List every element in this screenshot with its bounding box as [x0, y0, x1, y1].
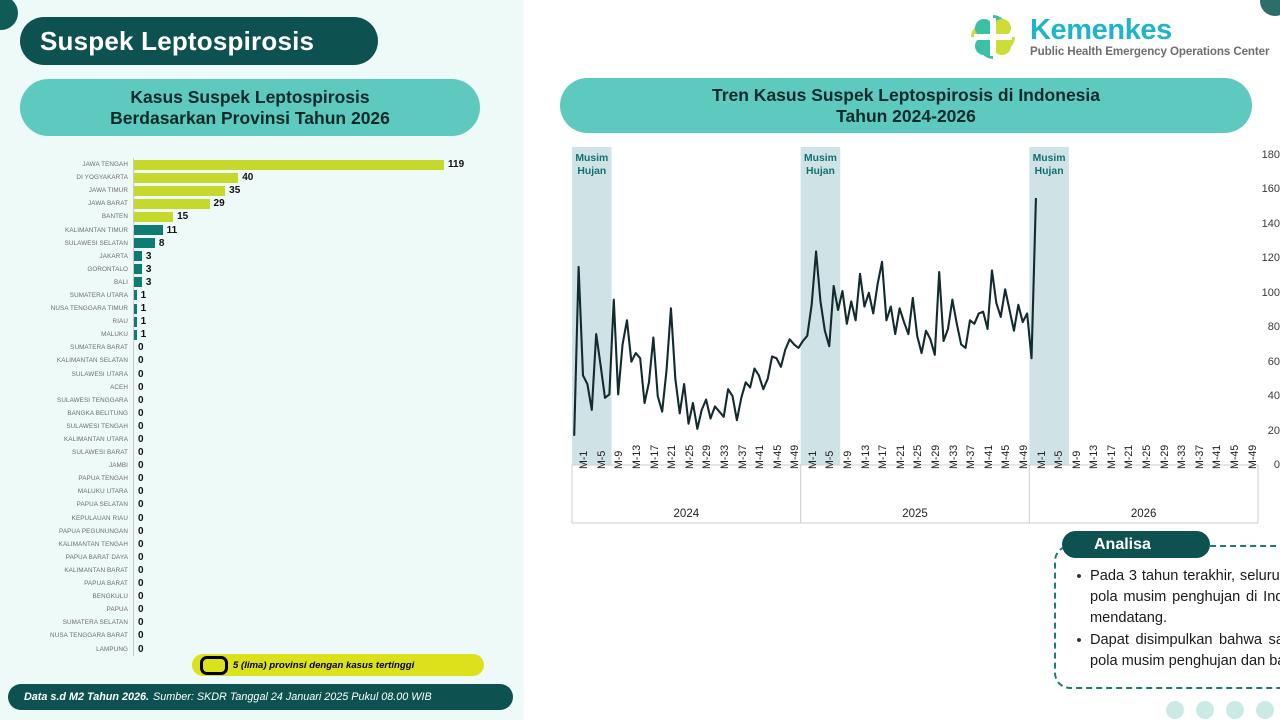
bar-value-label: 0 — [138, 565, 144, 576]
bar-value-label: 1 — [141, 316, 147, 327]
bar-category-label: PAPUA TENGAH — [0, 475, 133, 482]
y-axis-tick-label: 40 — [1244, 390, 1280, 402]
bar-value-label: 3 — [146, 251, 152, 262]
bar-category-label: JAMBI — [0, 462, 133, 469]
x-axis-tick-label: M-5 — [596, 451, 608, 469]
bar-fill — [134, 251, 142, 261]
bar-fill — [134, 173, 238, 183]
bar-chart-title-line2: Berdasarkan Provinsi Tahun 2026 — [110, 108, 390, 129]
bar-fill — [134, 290, 137, 300]
bar-category-label: KALIMANTAN TIMUR — [0, 227, 133, 234]
right-panel: Kemenkes Public Health Emergency Operati… — [524, 0, 1280, 720]
bar-category-label: SUMATERA BARAT — [0, 344, 133, 351]
bar-row: MALUKU UTARA0 — [0, 485, 524, 498]
bar-value-label: 0 — [138, 395, 144, 406]
source-footer: Data s.d M2 Tahun 2026. Sumber: SKDR Tan… — [8, 684, 513, 710]
bar-row: PAPUA0 — [0, 603, 524, 616]
bar-value-label: 15 — [177, 211, 188, 222]
bar-value-label: 11 — [167, 225, 178, 236]
bar-category-label: SULAWESI UTARA — [0, 371, 133, 378]
bar-track: 0 — [133, 433, 524, 446]
footer-data-period: Data s.d M2 Tahun 2026. — [24, 691, 149, 703]
bar-track: 0 — [133, 381, 524, 394]
x-axis-tick-label: M-9 — [1071, 451, 1083, 469]
bar-value-label: 0 — [138, 421, 144, 432]
bar-row: SULAWESI UTARA0 — [0, 368, 524, 381]
bar-row: JAWA TENGAH119 — [0, 158, 524, 171]
x-axis-tick-label: M-25 — [684, 445, 696, 469]
bar-track: 3 — [133, 250, 524, 263]
bar-category-label: SULAWESI TENGAH — [0, 423, 133, 430]
x-axis-tick-label: M-37 — [965, 445, 977, 469]
bar-category-label: ACEH — [0, 384, 133, 391]
x-axis-tick-label: M-45 — [1000, 445, 1012, 469]
season-band — [1029, 147, 1069, 465]
bar-category-label: JAWA TIMUR — [0, 187, 133, 194]
season-band-label: MusimHujan — [568, 153, 616, 178]
bar-track: 0 — [133, 551, 524, 564]
bar-value-label: 0 — [138, 617, 144, 628]
bar-row: PAPUA PEGUNUNGAN0 — [0, 525, 524, 538]
bar-value-label: 8 — [159, 238, 165, 249]
bar-track: 119 — [133, 158, 524, 171]
season-band-label: MusimHujan — [1025, 153, 1073, 178]
bar-value-label: 0 — [138, 342, 144, 353]
bar-track: 8 — [133, 237, 524, 250]
bar-track: 29 — [133, 197, 524, 210]
bar-category-label: PAPUA SELATAN — [0, 501, 133, 508]
bar-value-label: 0 — [138, 513, 144, 524]
decorative-corner-dot — [0, 0, 18, 30]
bar-track: 35 — [133, 184, 524, 197]
bar-track: 3 — [133, 263, 524, 276]
bar-row: KALIMANTAN TIMUR11 — [0, 223, 524, 236]
oval-highlight-icon — [200, 656, 228, 675]
bar-track: 0 — [133, 394, 524, 407]
analisa-heading: Analisa — [1094, 536, 1151, 554]
bar-value-label: 0 — [138, 644, 144, 655]
bar-value-label: 0 — [138, 578, 144, 589]
bar-row: PAPUA TENGAH0 — [0, 472, 524, 485]
bar-track: 0 — [133, 368, 524, 381]
bar-value-label: 0 — [138, 591, 144, 602]
x-axis-tick-label: M-37 — [737, 445, 749, 469]
bar-category-label: PAPUA — [0, 606, 133, 613]
bar-chart-legend-label: 5 (lima) provinsi dengan kasus tertinggi — [233, 660, 414, 671]
bar-row: NUSA TENGGARA BARAT0 — [0, 629, 524, 642]
bar-row: BANGKA BELITUNG0 — [0, 407, 524, 420]
bar-category-label: NUSA TENGGARA TIMUR — [0, 305, 133, 312]
x-axis-tick-label: M-17 — [1106, 445, 1118, 469]
bar-row: SUMATERA BARAT0 — [0, 341, 524, 354]
bar-track: 0 — [133, 472, 524, 485]
bar-row: PAPUA BARAT DAYA0 — [0, 551, 524, 564]
x-axis-tick-label: M-21 — [895, 445, 907, 469]
bar-value-label: 0 — [138, 552, 144, 563]
bar-row: BENGKULU0 — [0, 590, 524, 603]
bar-category-label: SULAWESI TENGGARA — [0, 397, 133, 404]
bar-category-label: KALIMANTAN UTARA — [0, 436, 133, 443]
bar-category-label: BANTEN — [0, 213, 133, 220]
bar-row: SULAWESI BARAT0 — [0, 446, 524, 459]
bar-row: KALIMANTAN UTARA0 — [0, 433, 524, 446]
bar-row: JAKARTA3 — [0, 250, 524, 263]
bar-category-label: SUMATERA SELATAN — [0, 619, 133, 626]
bar-track: 0 — [133, 459, 524, 472]
y-axis-tick-label: 160 — [1244, 183, 1280, 195]
bar-category-label: SUMATERA UTARA — [0, 292, 133, 299]
bar-value-label: 40 — [242, 172, 253, 183]
bar-track: 0 — [133, 498, 524, 511]
bar-row: KEPULAUAN RIAU0 — [0, 512, 524, 525]
bar-value-label: 0 — [138, 460, 144, 471]
x-axis-tick-label: M-1 — [807, 451, 819, 469]
bar-track: 0 — [133, 538, 524, 551]
slide-title-pill: Suspek Leptospirosis — [20, 17, 378, 65]
bar-track: 0 — [133, 616, 524, 629]
bar-value-label: 0 — [138, 539, 144, 550]
bar-track: 0 — [133, 420, 524, 433]
bar-category-label: PAPUA PEGUNUNGAN — [0, 528, 133, 535]
kemenkes-logo: Kemenkes Public Health Emergency Operati… — [964, 8, 1269, 66]
x-axis-tick-label: M-25 — [912, 445, 924, 469]
bar-row: PAPUA SELATAN0 — [0, 498, 524, 511]
bar-fill — [134, 330, 137, 340]
bar-row: ACEH0 — [0, 381, 524, 394]
x-axis-tick-label: M-17 — [877, 445, 889, 469]
bar-track: 0 — [133, 407, 524, 420]
y-axis-tick-label: 60 — [1244, 356, 1280, 368]
bar-row: RIAU1 — [0, 315, 524, 328]
x-axis-tick-label: M-29 — [930, 445, 942, 469]
trend-line-chart: MusimHujanMusimHujanMusimHujan0204060801… — [530, 145, 1280, 525]
bar-chart-title-line1: Kasus Suspek Leptospirosis — [130, 87, 369, 108]
bar-row: JAWA BARAT29 — [0, 197, 524, 210]
bar-value-label: 3 — [146, 277, 152, 288]
season-band-label: MusimHujan — [797, 153, 845, 178]
bar-category-label: MALUKU UTARA — [0, 488, 133, 495]
line-chart-title-line2: Tahun 2024-2026 — [836, 106, 976, 127]
bar-track: 0 — [133, 629, 524, 642]
analisa-bullet-text: Pada 3 tahun terakhir, seluruh suspek le… — [1090, 566, 1280, 629]
bar-row: MALUKU1 — [0, 328, 524, 341]
bar-row: SULAWESI TENGAH0 — [0, 420, 524, 433]
line-chart-title-pill: Tren Kasus Suspek Leptospirosis di Indon… — [560, 78, 1252, 133]
bar-fill — [134, 264, 142, 274]
bar-value-label: 0 — [138, 499, 144, 510]
analisa-heading-pill: Analisa — [1062, 531, 1210, 558]
x-axis-tick-label: M-29 — [701, 445, 713, 469]
x-axis-year-label: 2024 — [572, 508, 801, 520]
y-axis-tick-label: 180 — [1244, 149, 1280, 161]
x-axis-tick-label: M-37 — [1194, 445, 1206, 469]
x-axis-tick-label: M-1 — [578, 451, 590, 469]
bar-value-label: 1 — [141, 329, 147, 340]
bar-category-label: KALIMANTAN SELATAN — [0, 357, 133, 364]
page-title: Suspek Leptospirosis — [40, 26, 314, 57]
bar-category-label: JAKARTA — [0, 253, 133, 260]
bar-category-label: PAPUA BARAT DAYA — [0, 554, 133, 561]
x-axis-tick-label: M-33 — [1176, 445, 1188, 469]
y-axis-tick-label: 120 — [1244, 252, 1280, 264]
bar-track: 11 — [133, 223, 524, 236]
bar-track: 0 — [133, 603, 524, 616]
x-axis-tick-label: M-33 — [948, 445, 960, 469]
bar-value-label: 3 — [146, 264, 152, 275]
bar-value-label: 0 — [138, 382, 144, 393]
bar-chart-title-pill: Kasus Suspek Leptospirosis Berdasarkan P… — [20, 79, 480, 136]
bar-value-label: 0 — [138, 355, 144, 366]
bar-row: SULAWESI SELATAN8 — [0, 237, 524, 250]
bar-row: SUMATERA UTARA1 — [0, 289, 524, 302]
kemenkes-flower-icon — [964, 8, 1022, 66]
x-axis-tick-label: M-49 — [1018, 445, 1030, 469]
bullet-point-icon: • — [1068, 566, 1090, 629]
bar-row: KALIMANTAN BARAT0 — [0, 564, 524, 577]
bar-track: 1 — [133, 302, 524, 315]
x-axis-tick-label: M-21 — [1123, 445, 1135, 469]
x-axis-tick-label: M-45 — [1229, 445, 1241, 469]
bar-track: 0 — [133, 564, 524, 577]
logo-brand-text: Kemenkes — [1030, 15, 1269, 45]
bar-category-label: BANGKA BELITUNG — [0, 410, 133, 417]
x-axis-tick-label: M-41 — [983, 445, 995, 469]
bar-value-label: 0 — [138, 447, 144, 458]
bar-category-label: DI YOGYAKARTA — [0, 174, 133, 181]
analisa-bullet-row: •Dapat disimpulkan bahwa salah faktor ri… — [1068, 630, 1280, 672]
bar-row: SUMATERA SELATAN0 — [0, 616, 524, 629]
bar-value-label: 1 — [141, 290, 147, 301]
bar-value-label: 1 — [141, 303, 147, 314]
bar-value-label: 29 — [214, 198, 225, 209]
bar-value-label: 0 — [138, 369, 144, 380]
province-bar-chart: JAWA TENGAH119DI YOGYAKARTA40JAWA TIMUR3… — [0, 158, 524, 680]
bar-category-label: BENGKULU — [0, 593, 133, 600]
analisa-bullet-row: •Pada 3 tahun terakhir, seluruh suspek l… — [1068, 566, 1280, 629]
bar-track: 0 — [133, 446, 524, 459]
bar-fill — [134, 317, 137, 327]
bar-row: BANTEN15 — [0, 210, 524, 223]
bar-row: NUSA TENGGARA TIMUR1 — [0, 302, 524, 315]
bar-value-label: 0 — [138, 434, 144, 445]
bar-track: 15 — [133, 210, 524, 223]
bar-category-label: PAPUA BARAT — [0, 580, 133, 587]
bar-track: 0 — [133, 341, 524, 354]
x-axis-tick-label: M-13 — [631, 445, 643, 469]
x-axis-tick-label: M-1 — [1036, 451, 1048, 469]
analisa-bullet-text: Dapat disimpulkan bahwa salah faktor ris… — [1090, 630, 1280, 672]
x-axis-tick-label: M-13 — [1088, 445, 1100, 469]
bar-category-label: KALIMANTAN BARAT — [0, 567, 133, 574]
x-axis-tick-label: M-21 — [666, 445, 678, 469]
bar-fill — [134, 238, 155, 248]
x-axis-tick-label: M-41 — [1211, 445, 1223, 469]
bar-category-label: KEPULAUAN RIAU — [0, 515, 133, 522]
logo-subtitle-text: Public Health Emergency Operations Cente… — [1030, 45, 1269, 59]
bar-category-label: BALI — [0, 279, 133, 286]
x-axis-tick-label: M-29 — [1159, 445, 1171, 469]
bar-track: 40 — [133, 171, 524, 184]
line-chart-title-line1: Tren Kasus Suspek Leptospirosis di Indon… — [712, 85, 1100, 106]
y-axis-tick-label: 20 — [1244, 425, 1280, 437]
bar-value-label: 0 — [138, 473, 144, 484]
x-axis-tick-label: M-45 — [772, 445, 784, 469]
x-axis-tick-label: M-5 — [1053, 451, 1065, 469]
bar-value-label: 0 — [138, 630, 144, 641]
bar-category-label: JAWA BARAT — [0, 200, 133, 207]
bar-track: 1 — [133, 289, 524, 302]
bar-category-label: MALUKU — [0, 331, 133, 338]
bar-fill — [134, 225, 163, 235]
x-axis-year-label: 2026 — [1029, 508, 1258, 520]
bar-row: SULAWESI TENGGARA0 — [0, 394, 524, 407]
bar-category-label: SULAWESI SELATAN — [0, 240, 133, 247]
bar-fill — [134, 160, 444, 170]
x-axis-tick-label: M-49 — [1247, 445, 1259, 469]
bar-row: KALIMANTAN SELATAN0 — [0, 354, 524, 367]
bar-category-label: SULAWESI BARAT — [0, 449, 133, 456]
bar-track: 1 — [133, 315, 524, 328]
bar-value-label: 119 — [448, 159, 464, 170]
x-axis-tick-label: M-9 — [842, 451, 854, 469]
bar-category-label: LAMPUNG — [0, 646, 133, 653]
bar-value-label: 0 — [138, 526, 144, 537]
bar-category-label: GORONTALO — [0, 266, 133, 273]
bar-category-label: JAWA TENGAH — [0, 161, 133, 168]
x-axis-tick-label: M-41 — [754, 445, 766, 469]
bar-track: 1 — [133, 328, 524, 341]
x-axis-tick-label: M-49 — [789, 445, 801, 469]
bar-category-label: RIAU — [0, 318, 133, 325]
bar-row: PAPUA BARAT0 — [0, 577, 524, 590]
bar-chart-legend: 5 (lima) provinsi dengan kasus tertinggi — [192, 654, 484, 676]
bar-row: BALI3 — [0, 276, 524, 289]
bar-row: DI YOGYAKARTA40 — [0, 171, 524, 184]
bar-track: 0 — [133, 525, 524, 538]
bar-fill — [134, 186, 225, 196]
bar-category-label: NUSA TENGGARA BARAT — [0, 632, 133, 639]
y-axis-tick-label: 140 — [1244, 218, 1280, 230]
analisa-content: •Pada 3 tahun terakhir, seluruh suspek l… — [1068, 566, 1280, 673]
left-panel: Suspek Leptospirosis Kasus Suspek Leptos… — [0, 0, 524, 720]
footer-source: Sumber: SKDR Tanggal 24 Januari 2025 Puk… — [153, 691, 432, 703]
bullet-point-icon: • — [1068, 630, 1090, 672]
bar-track: 0 — [133, 354, 524, 367]
x-axis-tick-label: M-13 — [860, 445, 872, 469]
bar-fill — [134, 199, 210, 209]
x-axis-year-label: 2025 — [801, 508, 1030, 520]
bar-fill — [134, 304, 137, 314]
x-axis-tick-label: M-17 — [649, 445, 661, 469]
bar-track: 0 — [133, 485, 524, 498]
bar-track: 0 — [133, 577, 524, 590]
x-axis-tick-label: M-25 — [1141, 445, 1153, 469]
y-axis-tick-label: 100 — [1244, 287, 1280, 299]
bar-row: JAMBI0 — [0, 459, 524, 472]
bar-value-label: 0 — [138, 408, 144, 419]
bar-track: 0 — [133, 590, 524, 603]
bar-row: GORONTALO3 — [0, 263, 524, 276]
bar-category-label: KALIMANTAN TENGAH — [0, 541, 133, 548]
bar-fill — [134, 212, 173, 222]
bar-row: KALIMANTAN TENGAH0 — [0, 538, 524, 551]
bar-track: 3 — [133, 276, 524, 289]
y-axis-tick-label: 80 — [1244, 321, 1280, 333]
bar-fill — [134, 277, 142, 287]
bar-value-label: 35 — [229, 185, 240, 196]
bar-row: JAWA TIMUR35 — [0, 184, 524, 197]
x-axis-tick-label: M-9 — [613, 451, 625, 469]
bar-value-label: 0 — [138, 486, 144, 497]
bar-track: 0 — [133, 512, 524, 525]
bar-value-label: 0 — [138, 604, 144, 615]
x-axis-tick-label: M-5 — [824, 451, 836, 469]
x-axis-tick-label: M-33 — [719, 445, 731, 469]
